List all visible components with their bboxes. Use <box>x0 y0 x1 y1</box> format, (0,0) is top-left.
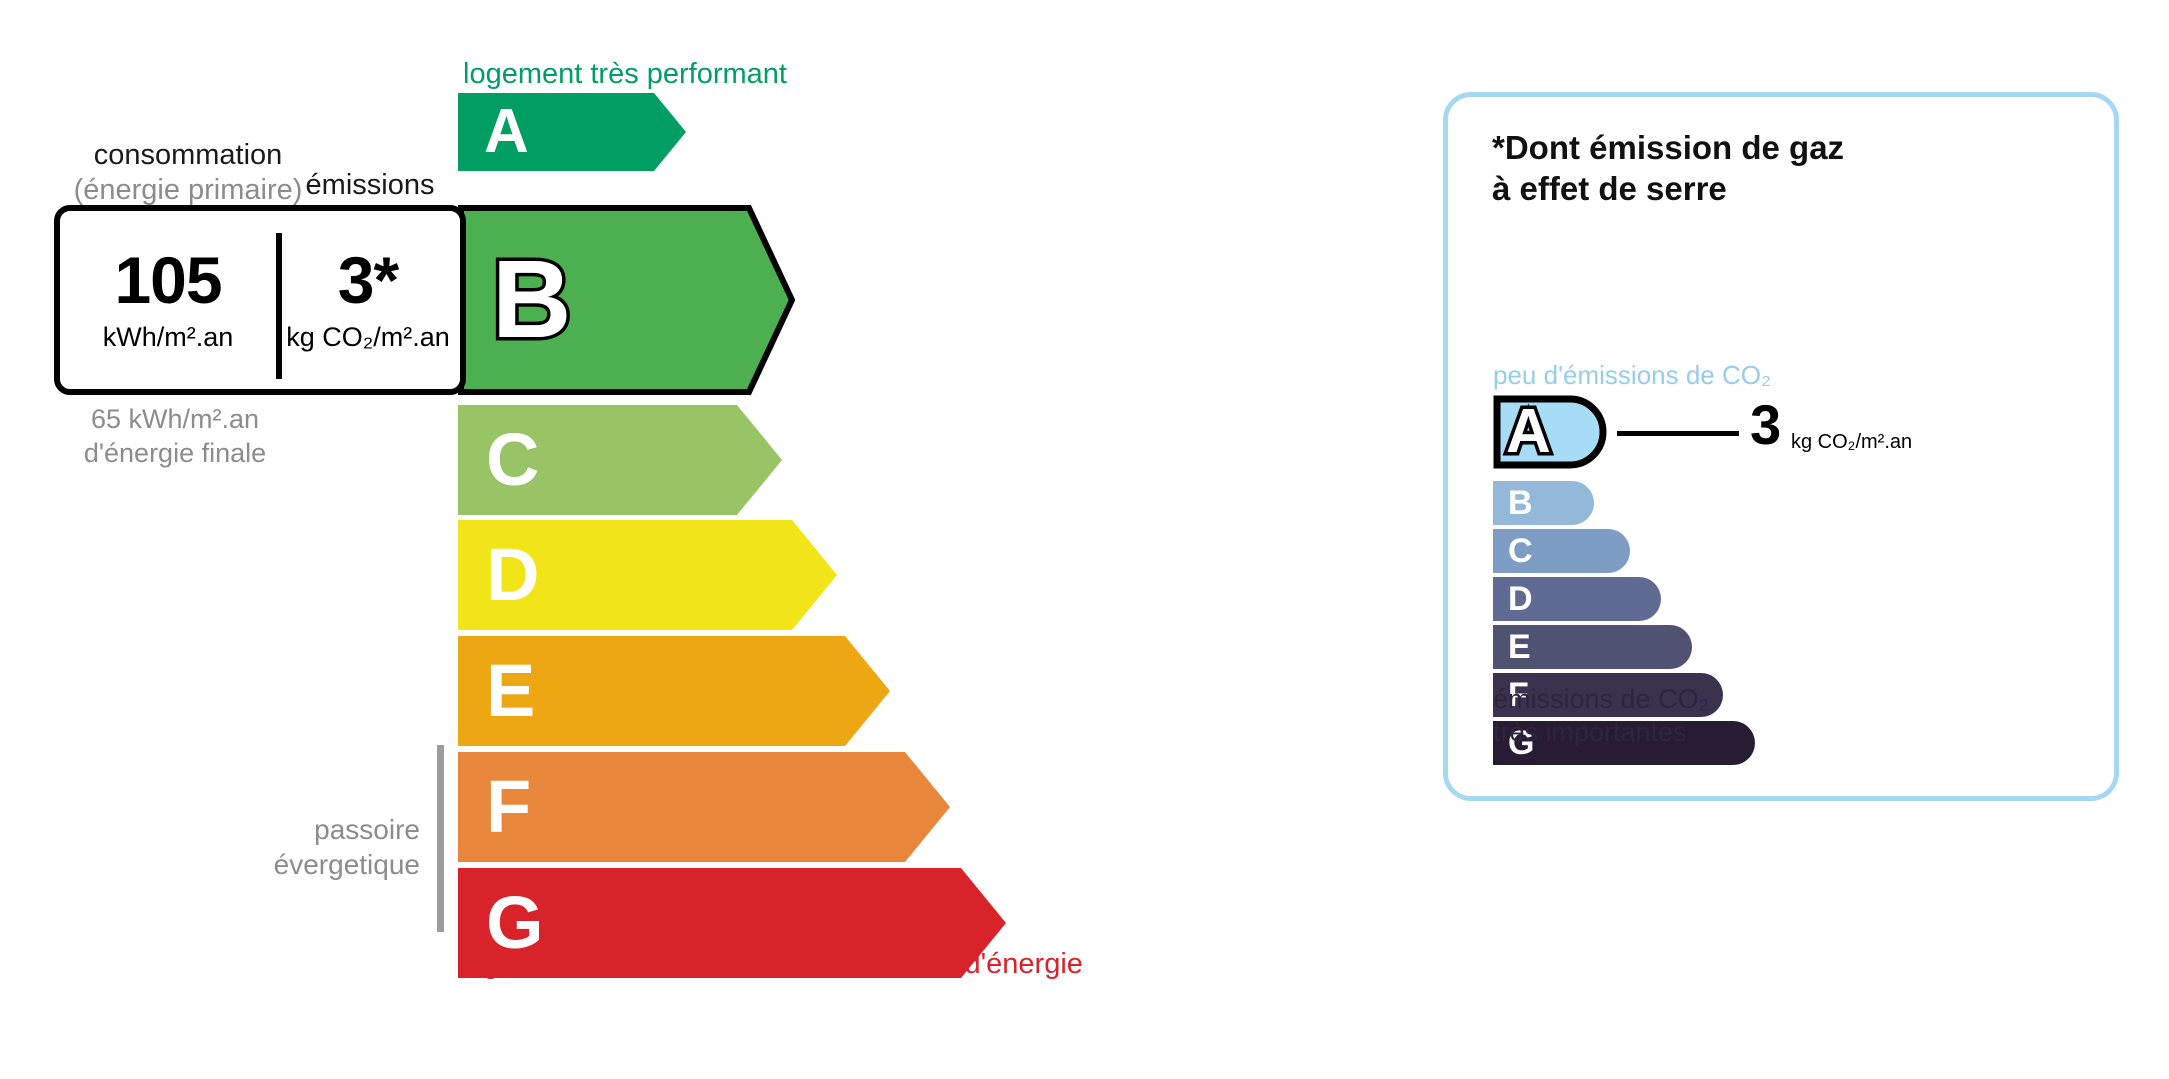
co2-bar-b[interactable]: B <box>1493 481 1594 525</box>
energy-value: 105 <box>114 247 221 313</box>
co2-emissions-panel: *Dont émission de gaz à effet de serre p… <box>1443 92 2119 801</box>
co2-bar-letter-b: B <box>1508 486 1533 520</box>
energy-band-letter-c: C <box>486 423 539 497</box>
energy-band-letter-g: G <box>486 886 544 960</box>
energy-band-letter-e: E <box>486 654 535 728</box>
energy-band-f[interactable]: F <box>458 752 950 862</box>
band-arrow-shape-f <box>458 752 950 862</box>
co2-leader-line <box>1617 431 1739 436</box>
co2-value-unit: kg CO₂/m².an <box>286 322 450 353</box>
energy-band-a[interactable]: A <box>458 93 686 171</box>
header-consumption-sub: (énergie primaire) <box>68 173 308 208</box>
co2-value: 3* <box>338 247 398 313</box>
energy-band-letter-b: B <box>492 245 571 355</box>
final-energy-note: 65 kWh/m².an d'énergie finale <box>60 402 290 470</box>
energy-band-letter-d: D <box>486 538 539 612</box>
caption-high-performance: logement très performant <box>463 58 787 91</box>
co2-caption-low: peu d'émissions de CO₂ <box>1493 360 1771 391</box>
co2-value-cell: 3* kg CO₂/m².an <box>276 211 460 389</box>
energy-band-g[interactable]: G <box>458 868 1006 978</box>
energy-performance-diagram: consommation (énergie primaire) émission… <box>0 0 1400 1079</box>
co2-current-class-badge[interactable]: A <box>1493 395 1607 469</box>
energy-band-c[interactable]: C <box>458 405 782 515</box>
header-consumption: consommation (énergie primaire) <box>68 138 308 209</box>
co2-badge-letter: A <box>1506 397 1551 467</box>
energy-band-b[interactable]: B <box>458 205 795 395</box>
energy-band-d[interactable]: D <box>458 520 837 630</box>
energy-value-unit: kWh/m².an <box>103 322 234 353</box>
co2-caption-high: émissions de CO₂ très importantes <box>1493 683 1709 750</box>
measured-values-box: 105 kWh/m².an 3* kg CO₂/m².an <box>54 205 466 395</box>
energy-band-e[interactable]: E <box>458 636 890 746</box>
passoire-bracket <box>437 745 444 932</box>
co2-panel-title: *Dont émission de gaz à effet de serre <box>1492 128 1844 210</box>
co2-measured-unit: kg CO₂/m².an <box>1791 431 1912 454</box>
co2-bar-e[interactable]: E <box>1493 625 1692 669</box>
energy-band-letter-a: A <box>484 101 529 163</box>
co2-bar-d[interactable]: D <box>1493 577 1661 621</box>
energy-band-letter-f: F <box>486 770 531 844</box>
passoire-label: passoire évergetique <box>245 812 420 883</box>
co2-bar-letter-c: C <box>1508 534 1533 568</box>
co2-bar-letter-d: D <box>1508 582 1533 616</box>
co2-bar-c[interactable]: C <box>1493 529 1630 573</box>
co2-measured-value: 3 <box>1750 397 1781 453</box>
co2-bar-letter-e: E <box>1508 630 1531 664</box>
header-emissions: émissions <box>300 168 440 203</box>
energy-value-cell: 105 kWh/m².an <box>60 211 276 389</box>
header-consumption-main: consommation <box>94 139 283 171</box>
